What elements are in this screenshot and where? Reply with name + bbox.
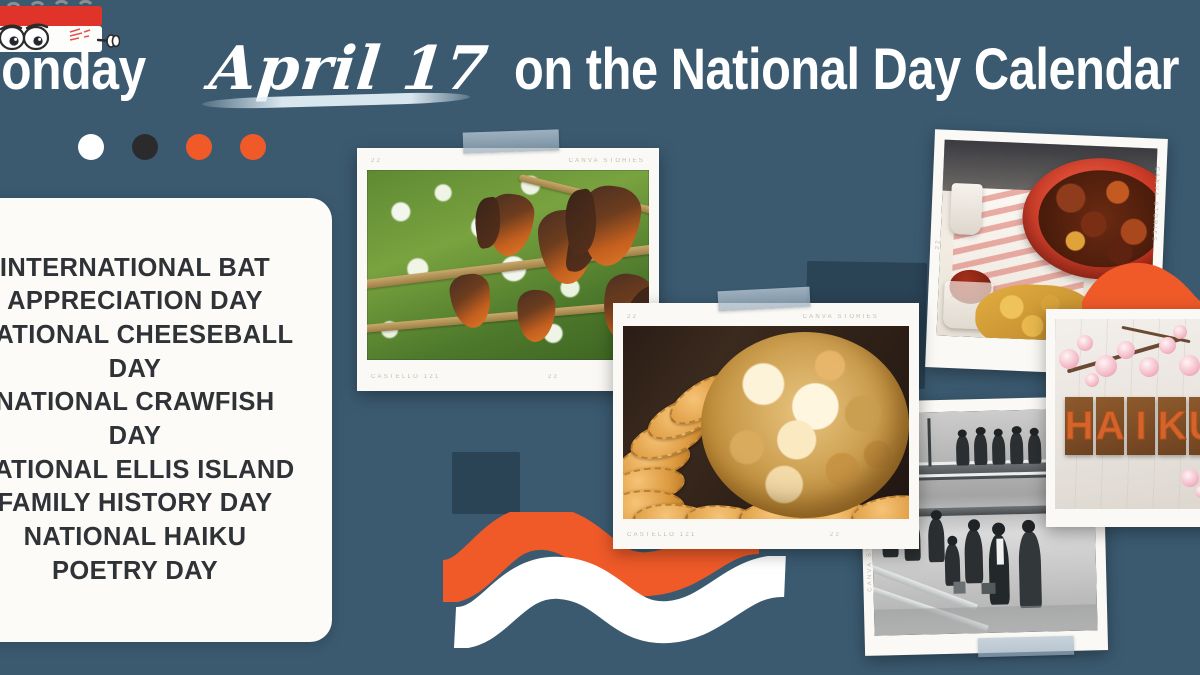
- photo-cheeseball: 22 Canva Stories Castello 121 22: [613, 303, 919, 549]
- photo-cheeseball-frame-label-top-right: Canva Stories: [803, 314, 879, 320]
- photo-bat-frame-label-top-right: Canva Stories: [569, 158, 645, 164]
- photo-haiku: H A I K U: [1046, 309, 1200, 527]
- tape-on-ellis-photo: [978, 636, 1074, 658]
- photo-crawfish-frame-label-left: 22: [935, 238, 941, 249]
- header-title-row: Monday April 17 on the National Day Cale…: [0, 26, 1200, 112]
- dot-white: [78, 134, 104, 160]
- list-item: National Cheeseball: [0, 319, 320, 353]
- dot-charcoal: [132, 134, 158, 160]
- page-header: Monday April 17 on the National Day Cale…: [0, 0, 1200, 130]
- list-item: Day: [0, 420, 320, 454]
- haiku-letterpress-word: H A I K U: [1065, 397, 1200, 455]
- bat-figure: [516, 289, 557, 343]
- bat-figure: [576, 182, 645, 269]
- header-dot-indicators: [78, 134, 266, 160]
- dot-orange-2: [240, 134, 266, 160]
- list-item: Poetry Day: [0, 555, 320, 589]
- photo-cheeseball-frame-label-top-left: 22: [627, 314, 638, 320]
- photo-cheeseball-frame-label-bottom-right: 22: [830, 532, 841, 538]
- photo-cheeseball-image: [623, 326, 909, 519]
- background-shadow-card-2: [452, 452, 520, 514]
- list-item: National Ellis Island: [0, 454, 320, 488]
- header-date-wrap: April 17: [210, 34, 488, 104]
- photo-haiku-image: H A I K U: [1055, 319, 1200, 509]
- slide-canvas: Monday April 17 on the National Day Cale…: [0, 0, 1200, 675]
- bat-figure: [447, 271, 494, 330]
- list-item: International Bat: [0, 252, 320, 286]
- photo-cheeseball-frame-label-bottom-left: Castello 121: [627, 532, 696, 538]
- header-suffix: on the National Day Calendar: [514, 36, 1179, 103]
- bat-figure: [484, 192, 536, 258]
- photo-bat-image: [367, 170, 649, 360]
- list-item: National Crawfish: [0, 386, 320, 420]
- list-item: National Haiku: [0, 521, 320, 555]
- photo-bat-frame-label-top-left: 22: [371, 158, 382, 164]
- white-squiggle-decoration: [445, 556, 795, 648]
- photo-bat-frame-label-bottom-right: 22: [548, 374, 559, 380]
- dot-orange-1: [186, 134, 212, 160]
- list-item: Day: [0, 353, 320, 387]
- tape-on-bat-photo: [463, 129, 560, 153]
- cheeseball-shape: [701, 332, 909, 518]
- photo-bat-frame-label-bottom-left: Castello 121: [371, 374, 440, 380]
- list-item: Appreciation Day: [0, 285, 320, 319]
- header-weekday: Monday: [0, 36, 146, 103]
- orange-curve-decoration: [1082, 246, 1200, 316]
- list-item: Family History Day: [0, 487, 320, 521]
- national-days-list-panel: International Bat Appreciation Day Natio…: [0, 198, 332, 642]
